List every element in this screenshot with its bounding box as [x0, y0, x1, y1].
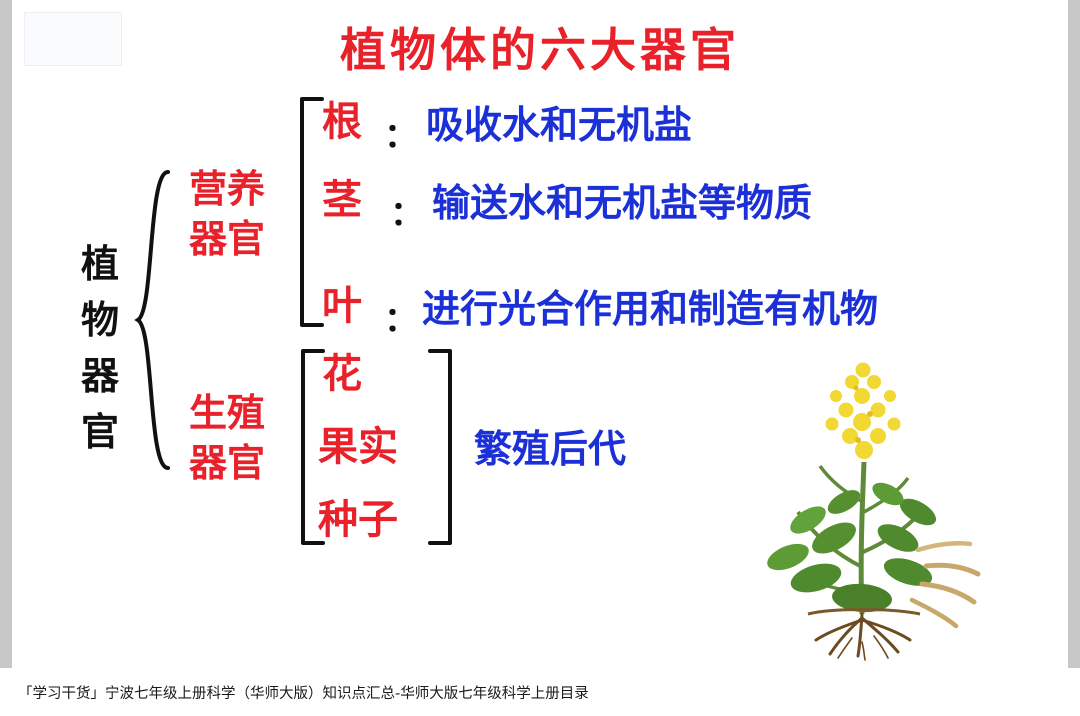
- organ-label-guoshi: 果实: [318, 425, 398, 469]
- organ-function-ye: 进行光合作用和制造有机物: [422, 288, 878, 330]
- caption-bar: 「学习干货」宁波七年级上册科学（华师大版）知识点汇总-华师大版七年级科学上册目录: [0, 668, 1080, 716]
- main-brace-icon: [134, 170, 174, 470]
- reproduction-function-label: 繁殖后代: [474, 428, 626, 470]
- organ-label-zhongzi: 种子: [318, 498, 398, 542]
- organ-label-hua: 花: [322, 352, 362, 396]
- organ-label-ye: 叶: [322, 284, 362, 328]
- diagram-title: 植物体的六大器官: [12, 14, 1068, 80]
- caption-text: 「学习干货」宁波七年级上册科学（华师大版）知识点汇总-华师大版七年级科学上册目录: [18, 682, 589, 703]
- colon-ye: ：: [384, 292, 418, 341]
- plant-illustration: [712, 352, 1012, 662]
- nutrition-brace-icon: [292, 96, 326, 328]
- screenshot-root: 植物体的六大器官 植物器官 营养器官 生殖器官 根 ： 吸收水和无机盐 茎 ： …: [0, 0, 1080, 716]
- root-label: 植物器官: [74, 236, 126, 460]
- group-label-reproduction: 生殖器官: [172, 388, 282, 488]
- colon-jing: ：: [390, 186, 424, 235]
- organ-label-jing: 茎: [322, 178, 362, 222]
- organ-function-gen: 吸收水和无机盐: [426, 104, 692, 146]
- reproduction-right-brace-icon: [426, 348, 460, 546]
- group-label-nutrition: 营养器官: [172, 164, 282, 264]
- colon-gen: ：: [384, 108, 418, 157]
- organ-label-gen: 根: [322, 100, 362, 144]
- organ-function-jing: 输送水和无机盐等物质: [432, 182, 812, 224]
- diagram-canvas: 植物体的六大器官 植物器官 营养器官 生殖器官 根 ： 吸收水和无机盐 茎 ： …: [12, 0, 1068, 668]
